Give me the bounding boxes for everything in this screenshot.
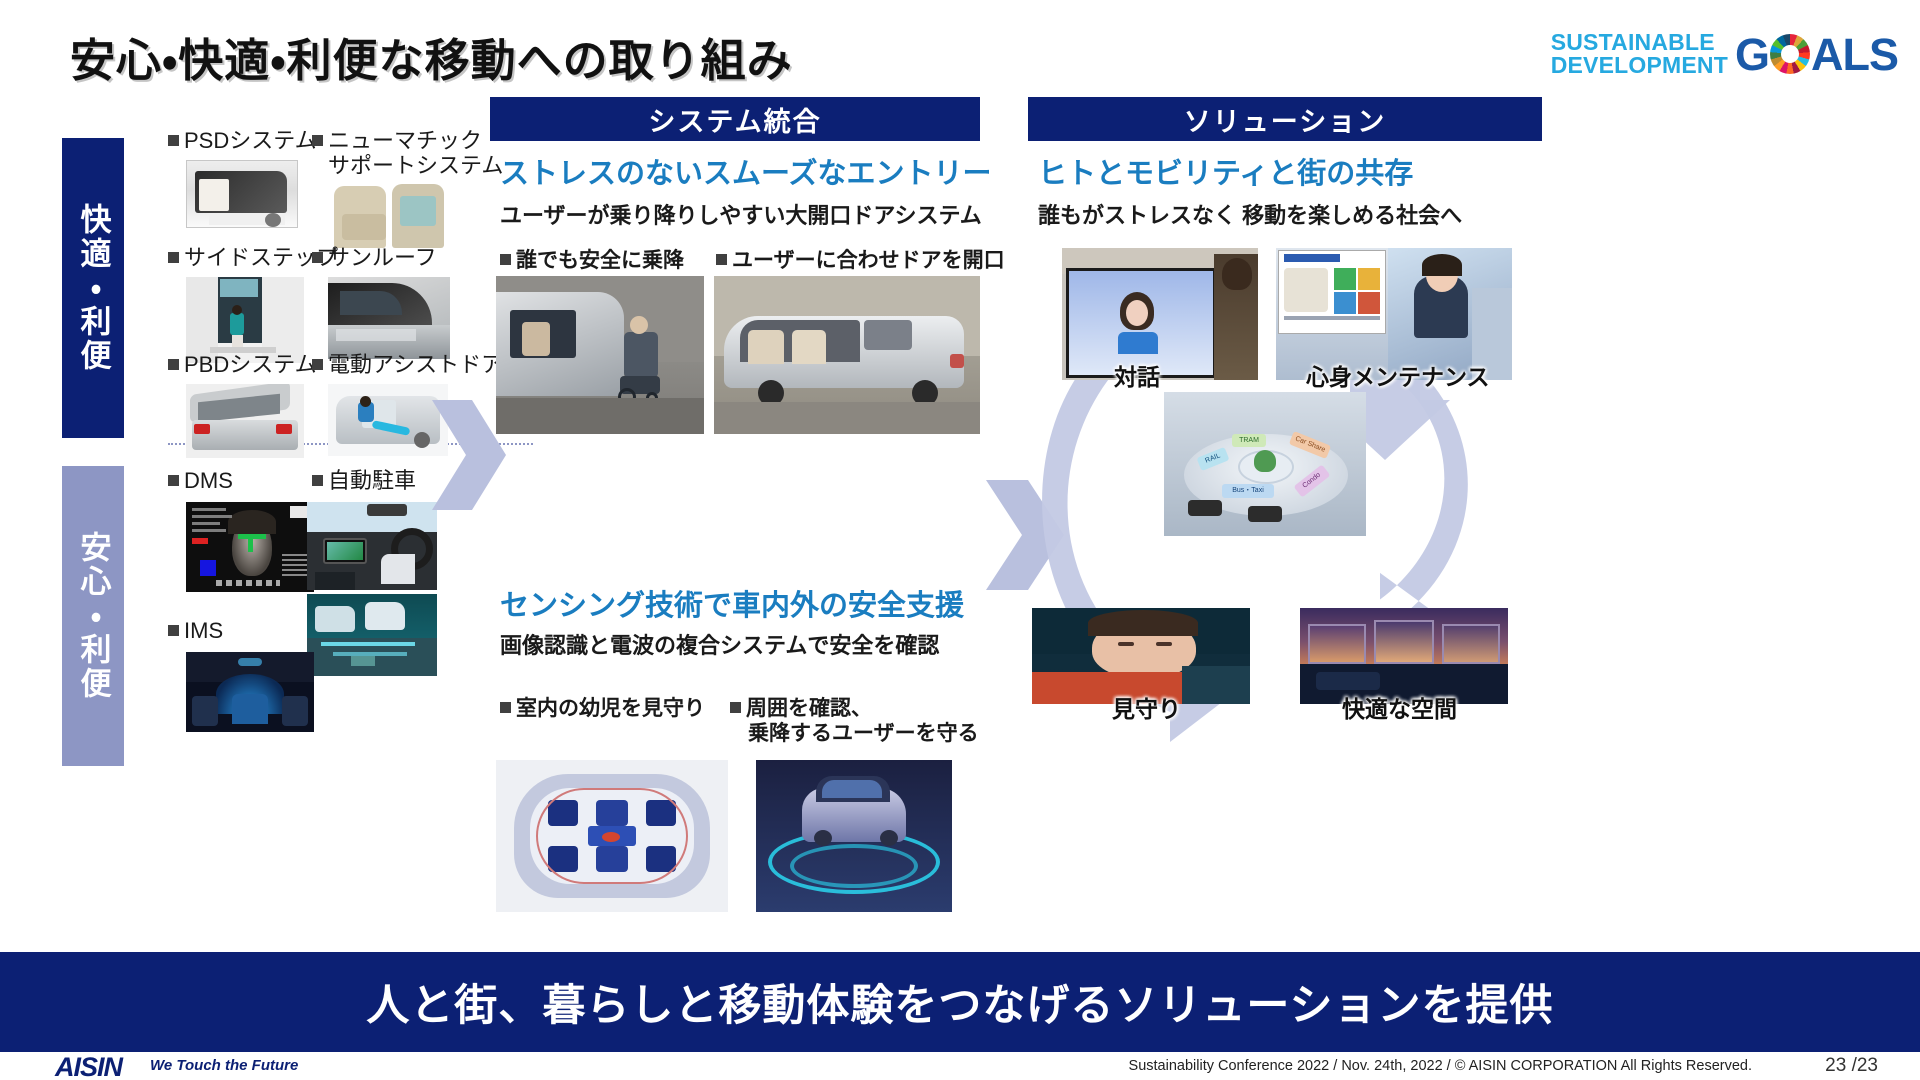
left-item-image-lower bbox=[307, 594, 437, 676]
middle-photo-wheelchair-boarding bbox=[496, 276, 704, 434]
left-item-label: DMS bbox=[168, 468, 233, 493]
sdg-logo: SUSTAINABLE DEVELOPMENT G ALS bbox=[1551, 26, 1898, 82]
page-title: 安心・快適・利便な移動への取り組み bbox=[70, 24, 793, 89]
sdg-goals-als: ALS bbox=[1811, 32, 1898, 77]
bullet-square-icon bbox=[312, 475, 323, 486]
left-item-label: 自動駐車 bbox=[312, 468, 416, 493]
middle-photo-wide-open-door bbox=[714, 276, 980, 434]
bullet-square-icon bbox=[312, 135, 323, 146]
sdg-goals-g: G bbox=[1735, 32, 1769, 77]
panel-header-solution: ソリューション bbox=[1028, 97, 1542, 141]
left-item-text: IMS bbox=[184, 618, 223, 643]
right-caption-comfort: 快適な空間 bbox=[1342, 690, 1457, 724]
sdg-wordmark: SUSTAINABLE DEVELOPMENT bbox=[1551, 31, 1728, 77]
bullet-square-icon bbox=[168, 625, 179, 636]
right-photo-dialogue bbox=[1062, 248, 1258, 380]
left-item-text: PBDシステム bbox=[184, 352, 317, 377]
bullet-square-icon bbox=[312, 252, 323, 263]
middle-photo-radar-rings bbox=[756, 760, 952, 912]
left-item-image bbox=[328, 277, 450, 359]
category-band-safety: 安心・利便 bbox=[62, 466, 124, 766]
bullet-square-icon bbox=[168, 135, 179, 146]
left-item-image-upper bbox=[307, 502, 437, 590]
middle-block2-bullet-2: 周囲を確認、 乗降するユーザーを守る bbox=[730, 696, 979, 746]
bullet-text: 周囲を確認、 bbox=[746, 697, 872, 720]
bullet-square-icon bbox=[312, 359, 323, 370]
left-item-image bbox=[328, 180, 454, 254]
middle-block1-bullet-2: ユーザーに合わせドアを開口 bbox=[716, 248, 1005, 273]
left-item-label: 電動アシストドア bbox=[312, 352, 503, 377]
left-item-text: 電動アシストドア bbox=[328, 352, 503, 377]
summary-banner: 人と街、暮らしと移動体験をつなげるソリューションを提供 bbox=[0, 952, 1920, 1052]
right-caption-mindbody: 心身メンテナンス bbox=[1306, 358, 1490, 392]
left-item-autopark: 自動駐車 bbox=[312, 468, 416, 493]
middle-block2-subheading: 画像認識と電波の複合システムで安全を確認 bbox=[500, 628, 939, 660]
left-item-text: ニューマチック bbox=[328, 128, 482, 153]
aisin-logo: AISIN bbox=[55, 1052, 122, 1080]
bullet-square-icon bbox=[500, 254, 511, 265]
sdg-wheel-icon bbox=[1770, 34, 1810, 74]
left-item-dms: DMS bbox=[168, 468, 233, 493]
left-item-powerassist: 電動アシストドア bbox=[312, 352, 503, 377]
slide-root: 安心・快適・利便な移動への取り組み SUSTAINABLE DEVELOPMEN… bbox=[0, 0, 1920, 1080]
bullet-square-icon bbox=[168, 359, 179, 370]
left-item-label: PBDシステム bbox=[168, 352, 317, 377]
footer-credit: Sustainability Conference 2022 / Nov. 24… bbox=[1129, 1058, 1752, 1074]
left-item-text: PSDシステム bbox=[184, 128, 317, 153]
bullet-square-icon bbox=[500, 702, 511, 713]
bullet-square-icon bbox=[168, 252, 179, 263]
middle-photo-cabin-topview bbox=[496, 760, 728, 912]
left-item-text2: サポートシステム bbox=[328, 153, 503, 178]
left-item-label-2: サポートシステム bbox=[312, 153, 503, 178]
left-item-image bbox=[186, 160, 298, 228]
category-band-comfort: 快適・利便 bbox=[62, 138, 124, 438]
bullet-text: 誰でも安全に乗降 bbox=[516, 249, 684, 272]
left-item-image bbox=[186, 277, 304, 363]
left-item-label: IMS bbox=[168, 618, 223, 643]
sdg-goals-word: G ALS bbox=[1735, 32, 1898, 77]
sdg-line1: SUSTAINABLE bbox=[1551, 31, 1728, 54]
left-item-image bbox=[328, 384, 448, 456]
left-item-label: ニューマチック bbox=[312, 128, 503, 153]
city-label-tram: TRAM bbox=[1232, 434, 1266, 447]
left-item-label: サンルーフ bbox=[312, 245, 437, 270]
left-item-sunroof: サンルーフ bbox=[312, 245, 437, 270]
middle-block2-heading: センシング技術で車内外の安全支援 bbox=[500, 582, 964, 624]
left-item-image bbox=[186, 502, 314, 592]
middle-block2-bullet-1: 室内の幼児を見守り bbox=[500, 696, 705, 721]
right-panel-subheading: 誰もがストレスなく 移動を楽しめる社会へ bbox=[1038, 198, 1462, 230]
bullet-text: ユーザーに合わせドアを開口 bbox=[732, 249, 1005, 272]
bullet-square-icon bbox=[716, 254, 727, 265]
middle-block1-bullet-1: 誰でも安全に乗降 bbox=[500, 248, 684, 273]
left-item-ims: IMS bbox=[168, 618, 223, 643]
left-item-text: 自動駐車 bbox=[328, 468, 416, 493]
bullet-square-icon bbox=[730, 702, 741, 713]
right-caption-watching: 見守り bbox=[1112, 690, 1181, 724]
bullet-square-icon bbox=[168, 475, 179, 486]
right-caption-dialogue: 対話 bbox=[1114, 358, 1160, 392]
middle-block1-subheading: ユーザーが乗り降りしやすい大開口ドアシステム bbox=[500, 198, 982, 230]
left-item-text: サンルーフ bbox=[328, 245, 437, 270]
sdg-line2: DEVELOPMENT bbox=[1551, 54, 1728, 77]
city-label-bustaxi: Bus・Taxi bbox=[1222, 484, 1274, 498]
left-item-pneumatic: ニューマチック サポートシステム bbox=[312, 128, 503, 179]
right-photo-city-hub: RAIL TRAM Car Share Bus・Taxi Condo bbox=[1164, 392, 1366, 536]
middle-block1-heading: ストレスのないスムーズなエントリー bbox=[500, 150, 992, 192]
left-item-image bbox=[186, 652, 314, 732]
bullet-text: 室内の幼児を見守り bbox=[516, 697, 705, 720]
aisin-tagline: We Touch the Future bbox=[150, 1057, 298, 1074]
footer-rule bbox=[0, 1044, 1920, 1046]
left-item-label: PSDシステム bbox=[168, 128, 317, 153]
left-item-image bbox=[186, 384, 304, 458]
left-item-text: DMS bbox=[184, 468, 233, 493]
panel-header-system-integration: システム統合 bbox=[490, 97, 980, 141]
left-item-pbd: PBDシステム bbox=[168, 352, 317, 377]
bullet-text-line2: 乗降するユーザーを守る bbox=[730, 721, 979, 746]
arrow-left-to-middle-icon bbox=[432, 400, 506, 510]
left-item-psd: PSDシステム bbox=[168, 128, 317, 153]
page-number: 23 /23 bbox=[1825, 1055, 1878, 1077]
right-panel-heading: ヒトとモビリティと街の共存 bbox=[1038, 150, 1413, 192]
